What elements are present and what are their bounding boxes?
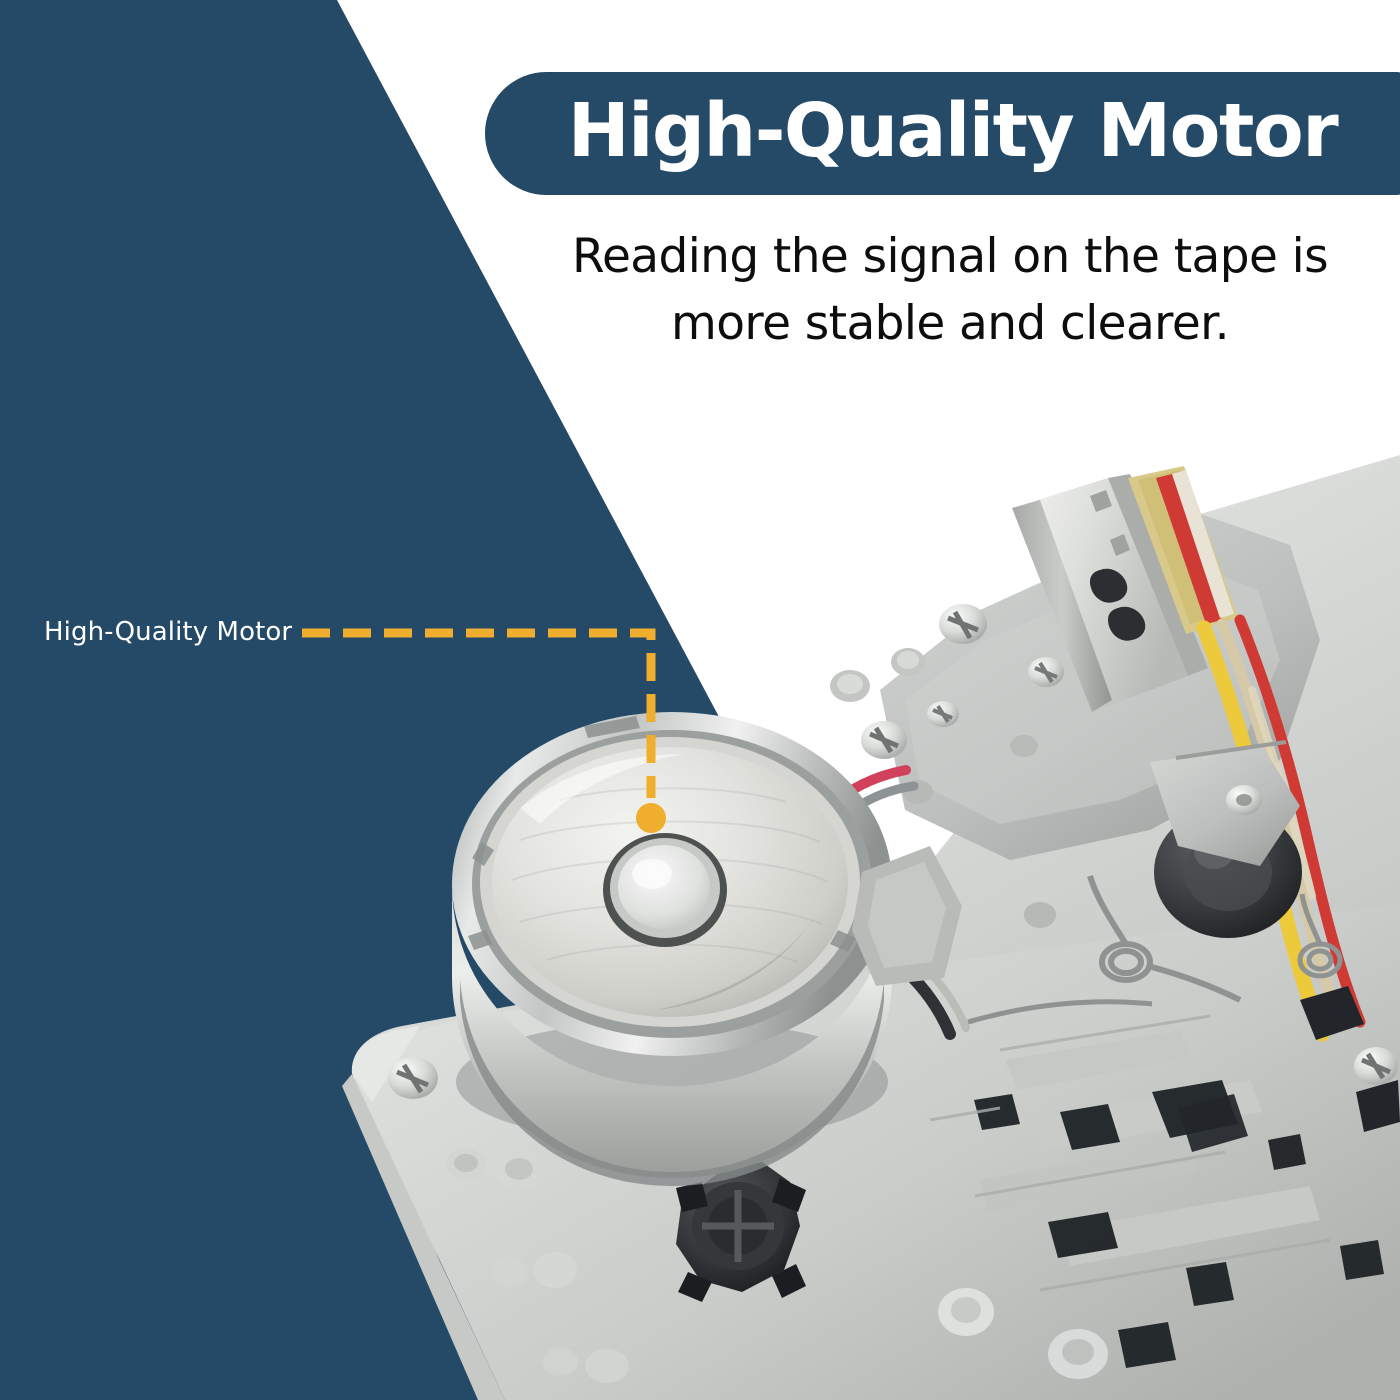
subtitle-line-2: more stable and clearer. <box>520 291 1380 358</box>
navy-background-panel <box>0 0 1400 1400</box>
page-title: High-Quality Motor <box>568 94 1337 168</box>
navy-wedge-shape <box>0 0 742 1400</box>
subtitle-line-1: Reading the signal on the tape is <box>520 224 1380 291</box>
callout-label: High-Quality Motor <box>44 617 292 647</box>
subtitle-block: Reading the signal on the tape is more s… <box>520 224 1380 357</box>
infographic-canvas: High-Quality Motor Reading the signal on… <box>0 0 1400 1400</box>
title-pill: High-Quality Motor <box>485 72 1400 195</box>
